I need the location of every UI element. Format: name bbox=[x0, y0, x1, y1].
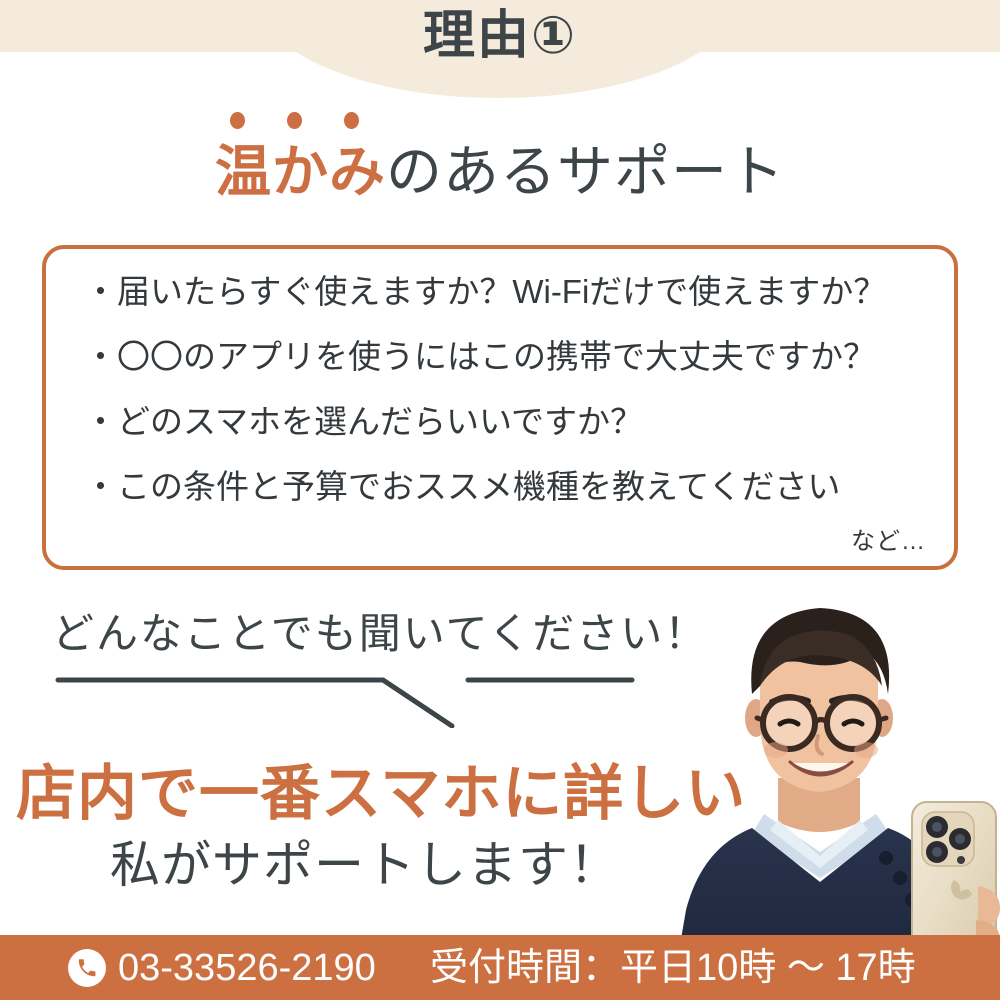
emphasis-dot bbox=[344, 112, 359, 129]
business-hours: 受付時間：平日10時 〜 17時 bbox=[430, 949, 916, 987]
callout-subheadline: 私がサポートします！ bbox=[110, 825, 620, 897]
callout-headline: 店内で一番スマホに詳しい bbox=[16, 745, 746, 832]
headline-accent: 温かみ bbox=[215, 140, 386, 203]
emphasis-dot bbox=[287, 112, 302, 129]
staff-portrait-illustration bbox=[660, 590, 1000, 980]
section-headline: 温かみのあるサポート bbox=[0, 140, 1000, 204]
list-item: ・この条件と予算でおススメ機種を教えてください bbox=[84, 470, 934, 503]
list-item: ・どのスマホを選んだらいいですか？ bbox=[84, 405, 934, 438]
emphasis-dot bbox=[230, 112, 245, 129]
emphasis-dots bbox=[230, 112, 359, 134]
headline-rest: のあるサポート bbox=[386, 140, 785, 203]
etc-label: など… bbox=[851, 521, 926, 556]
speech-tail-underline bbox=[40, 668, 660, 728]
phone-icon bbox=[68, 949, 106, 987]
list-item: ・届いたらすぐ使えますか？Wi-Fiだけで使えますか？ bbox=[84, 275, 934, 308]
page-title: 理由① bbox=[0, 10, 1000, 62]
phone-handset-glyph bbox=[76, 957, 98, 979]
question-box: ・届いたらすぐ使えますか？Wi-Fiだけで使えますか？ ・〇〇のアプリを使うには… bbox=[42, 245, 958, 570]
staff-photo bbox=[660, 590, 1000, 980]
ask-anything-text: どんなことでも聞いてください！ bbox=[52, 600, 708, 661]
phone-number[interactable]: 03-33526-2190 bbox=[118, 949, 376, 987]
contact-footer-bar: 03-33526-2190 受付時間：平日10時 〜 17時 bbox=[0, 935, 1000, 1000]
list-item: ・〇〇のアプリを使うにはこの携帯で大丈夫ですか？ bbox=[84, 340, 934, 373]
question-list: ・届いたらすぐ使えますか？Wi-Fiだけで使えますか？ ・〇〇のアプリを使うには… bbox=[84, 275, 934, 503]
